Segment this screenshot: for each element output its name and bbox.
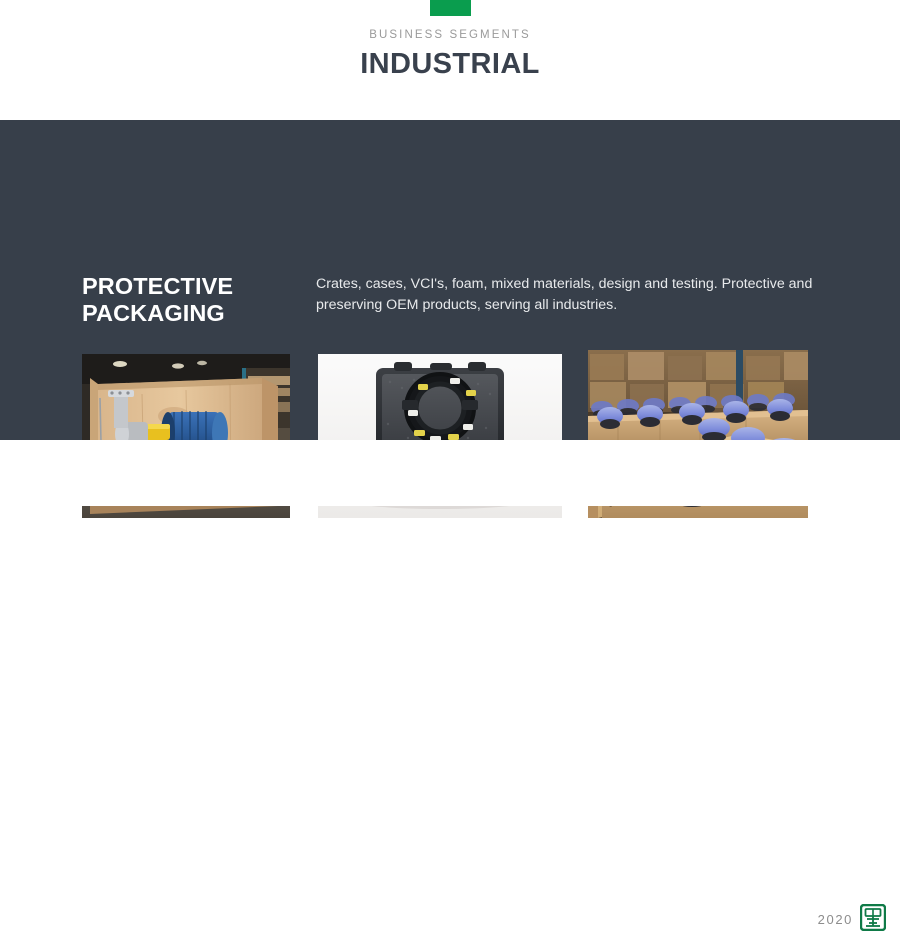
content-band: PROTECTIVE PACKAGING Crates, cases, VCI'… (0, 120, 900, 440)
page-footer: 2020 (0, 440, 900, 506)
block-description: Crates, cases, VCI's, foam, mixed materi… (316, 274, 831, 316)
eyebrow-label: BUSINESS SEGMENTS (0, 29, 900, 41)
block-title: PROTECTIVE PACKAGING (82, 273, 307, 328)
block-title-line-1: PROTECTIVE (82, 273, 307, 300)
page-header: BUSINESS SEGMENTS INDUSTRIAL (0, 0, 900, 120)
year-label: 2020 (818, 912, 853, 927)
company-emblem-glyph (860, 904, 886, 931)
green-accent-bar (430, 0, 471, 16)
company-emblem-icon (860, 904, 886, 931)
block-title-line-2: PACKAGING (82, 300, 307, 327)
page-title: INDUSTRIAL (0, 48, 900, 81)
